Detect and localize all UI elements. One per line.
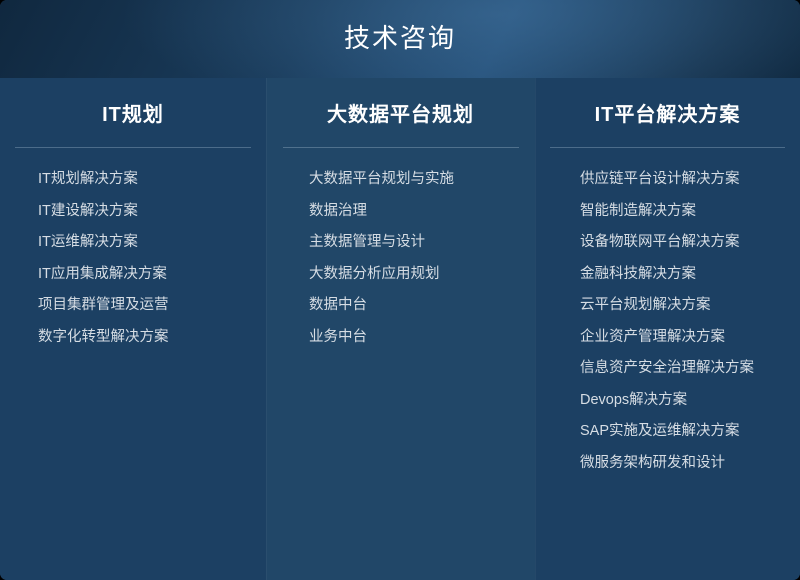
column-heading: IT平台解决方案 — [535, 105, 800, 125]
list-item[interactable]: 智能制造解决方案 — [580, 204, 800, 219]
list-item[interactable]: 微服务架构研发和设计 — [580, 456, 800, 471]
list-item[interactable]: 信息资产安全治理解决方案 — [580, 361, 800, 376]
column-item-list: 供应链平台设计解决方案 智能制造解决方案 设备物联网平台解决方案 金融科技解决方… — [535, 148, 800, 470]
list-item[interactable]: 设备物联网平台解决方案 — [580, 235, 800, 250]
category-column-it-platform-solutions: IT平台解决方案 供应链平台设计解决方案 智能制造解决方案 设备物联网平台解决方… — [535, 78, 800, 580]
list-item[interactable]: Devops解决方案 — [580, 393, 800, 408]
list-item[interactable]: 数字化转型解决方案 — [38, 330, 266, 345]
column-item-list: IT规划解决方案 IT建设解决方案 IT运维解决方案 IT应用集成解决方案 项目… — [0, 148, 266, 344]
list-item[interactable]: IT运维解决方案 — [38, 235, 266, 250]
list-item[interactable]: 大数据分析应用规划 — [309, 267, 535, 282]
list-item[interactable]: 企业资产管理解决方案 — [580, 330, 800, 345]
list-item[interactable]: IT建设解决方案 — [38, 204, 266, 219]
list-item[interactable]: 供应链平台设计解决方案 — [580, 172, 800, 187]
list-item[interactable]: IT规划解决方案 — [38, 172, 266, 187]
list-item[interactable]: 业务中台 — [309, 330, 535, 345]
list-item[interactable]: 大数据平台规划与实施 — [309, 172, 535, 187]
list-item[interactable]: 主数据管理与设计 — [309, 235, 535, 250]
list-item[interactable]: 数据治理 — [309, 204, 535, 219]
category-column-big-data-platform-planning: 大数据平台规划 大数据平台规划与实施 数据治理 主数据管理与设计 大数据分析应用… — [266, 78, 535, 580]
columns-container: IT规划 IT规划解决方案 IT建设解决方案 IT运维解决方案 IT应用集成解决… — [0, 78, 800, 580]
list-item[interactable]: 项目集群管理及运营 — [38, 298, 266, 313]
list-item[interactable]: 云平台规划解决方案 — [580, 298, 800, 313]
list-item[interactable]: IT应用集成解决方案 — [38, 267, 266, 282]
column-heading: IT规划 — [0, 105, 266, 125]
panel-header: 技术咨询 — [0, 0, 800, 78]
list-item[interactable]: 数据中台 — [309, 298, 535, 313]
list-item[interactable]: SAP实施及运维解决方案 — [580, 424, 800, 439]
list-item[interactable]: 金融科技解决方案 — [580, 267, 800, 282]
category-column-it-planning: IT规划 IT规划解决方案 IT建设解决方案 IT运维解决方案 IT应用集成解决… — [0, 78, 266, 580]
tech-consulting-panel: 技术咨询 IT规划 IT规划解决方案 IT建设解决方案 IT运维解决方案 IT应… — [0, 0, 800, 580]
page-title: 技术咨询 — [344, 25, 456, 53]
column-heading: 大数据平台规划 — [266, 105, 535, 125]
column-item-list: 大数据平台规划与实施 数据治理 主数据管理与设计 大数据分析应用规划 数据中台 … — [266, 148, 535, 344]
